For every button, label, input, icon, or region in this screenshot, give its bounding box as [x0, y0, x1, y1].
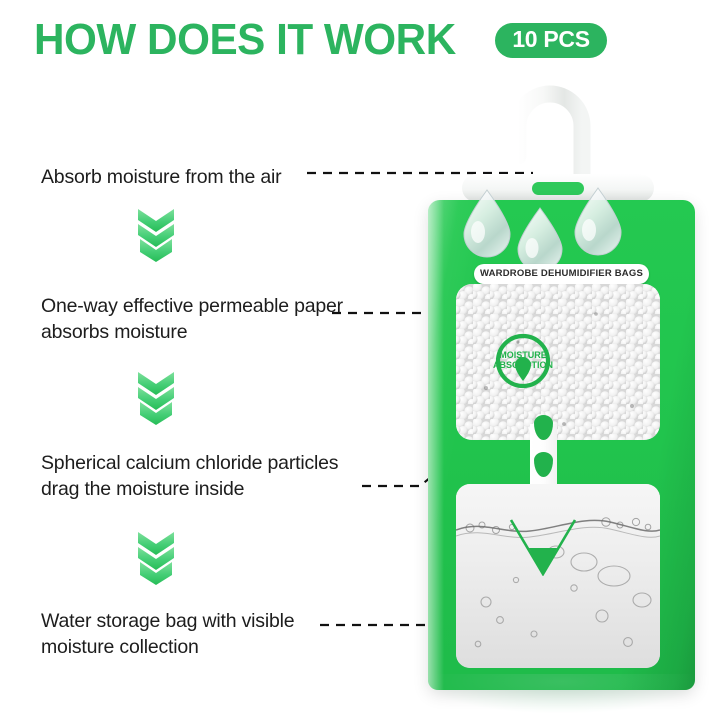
page-title: HOW DOES IT WORK: [34, 18, 456, 62]
bag-gloss-highlight: [428, 200, 444, 690]
pieces-count-badge: 10 PCS: [495, 23, 606, 58]
step-label-calcium-chloride: Spherical calcium chloride particles dra…: [41, 450, 371, 502]
water-droplet-icon: [570, 186, 626, 256]
water-droplet-icon: [514, 206, 566, 272]
arrow-down-icon: [507, 518, 579, 576]
step-label-absorb-moisture: Absorb moisture from the air: [41, 164, 371, 190]
infographic-page: HOW DOES IT WORK 10 PCS Absorb moisture …: [0, 0, 720, 720]
water-storage-panel: [456, 484, 660, 668]
chevron-down-icon: [128, 528, 184, 586]
header: HOW DOES IT WORK 10 PCS: [34, 18, 607, 62]
product-illustration: WARDROBE DEHUMIDIFIER BAGS: [412, 78, 702, 702]
step-label-permeable-paper: One-way effective permeable paper absorb…: [41, 293, 371, 345]
calcium-chloride-beads-panel: [456, 284, 660, 440]
step-label-water-storage: Water storage bag with visible moisture …: [41, 608, 371, 660]
moisture-absorption-badge: MOISTURE ABSORPTION: [490, 331, 556, 397]
water-droplet-icon: [459, 188, 515, 258]
chevron-down-icon: [128, 205, 184, 263]
chevron-down-icon: [128, 368, 184, 426]
bag-drop-shadow: [422, 674, 702, 714]
product-name-label: WARDROBE DEHUMIDIFIER BAGS: [474, 264, 649, 284]
